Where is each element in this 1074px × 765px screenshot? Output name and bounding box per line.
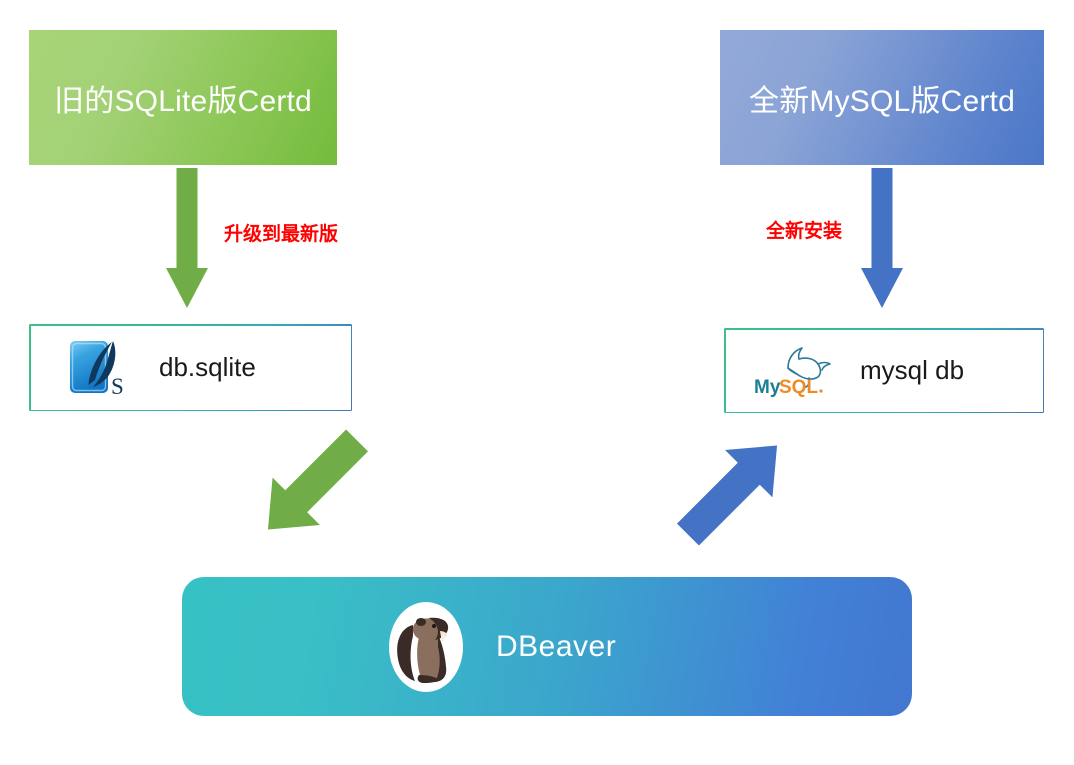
node-dbeaver: DBeaver bbox=[182, 577, 912, 716]
arrow-sqlite-to-dbeaver-icon bbox=[245, 420, 380, 550]
node-db-sqlite-label: db.sqlite bbox=[159, 352, 256, 383]
mysql-logo-sql-text: SQL bbox=[779, 377, 818, 397]
node-old-certd-label: 旧的SQLite版Certd bbox=[54, 76, 312, 120]
mysql-logo-my-text: My bbox=[754, 377, 781, 397]
arrow-upgrade-down-icon bbox=[166, 168, 208, 308]
node-new-certd: 全新MySQL版Certd bbox=[720, 30, 1044, 165]
edge-label-install: 全新安装 bbox=[766, 216, 842, 243]
sqlite-logo-icon: S bbox=[65, 336, 129, 400]
node-new-certd-label: 全新MySQL版Certd bbox=[749, 76, 1015, 120]
arrow-mysql-to-dbeaver-icon bbox=[665, 425, 800, 555]
svg-text:S: S bbox=[111, 374, 124, 399]
mysql-logo-icon: My SQL bbox=[752, 345, 836, 397]
node-old-certd: 旧的SQLite版Certd bbox=[29, 30, 337, 165]
arrow-install-down-icon bbox=[861, 168, 903, 308]
dbeaver-beaver-icon bbox=[388, 601, 464, 693]
edge-label-upgrade: 升级到最新版 bbox=[224, 219, 338, 246]
node-db-mysql: My SQL mysql db bbox=[724, 328, 1044, 413]
node-dbeaver-label: DBeaver bbox=[496, 630, 616, 664]
node-db-mysql-label: mysql db bbox=[860, 355, 964, 386]
diagram-canvas: 旧的SQLite版Certd 全新MySQL版Certd 升级到最新版 全新安装 bbox=[0, 0, 1074, 765]
node-db-sqlite: S db.sqlite bbox=[29, 324, 352, 411]
